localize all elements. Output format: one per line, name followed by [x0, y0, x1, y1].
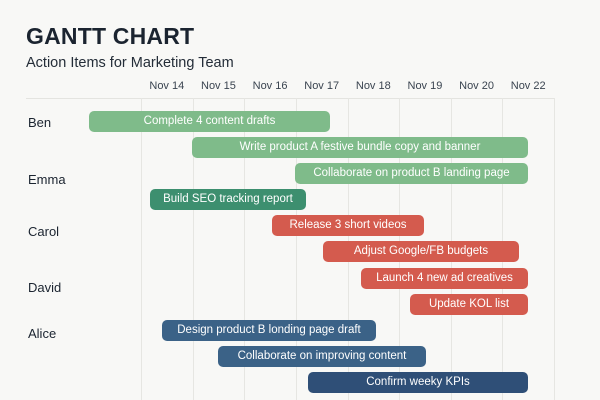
task-bar[interactable]: Build SEO tracking report	[150, 189, 306, 210]
row-label-carol: Carol	[28, 224, 132, 239]
task-bar[interactable]: Design product B londing page draft	[162, 320, 376, 341]
task-bar[interactable]: Adjust Google/FB budgets	[323, 241, 519, 262]
page-title: GANTT CHART	[26, 24, 566, 49]
task-bar[interactable]: Write product A festive bundle copy and …	[192, 137, 528, 158]
task-bar[interactable]: Launch 4 new ad creatives	[361, 268, 528, 289]
page-subtitle: Action Items for Marketing Team	[26, 55, 566, 72]
task-bar[interactable]: Complete 4 content drafts	[89, 111, 330, 132]
task-bar[interactable]: Release 3 short videos	[272, 215, 424, 236]
grid-column-line	[141, 98, 142, 400]
task-bar[interactable]: Update KOL list	[410, 294, 528, 315]
task-bar[interactable]: Confirm weeky KPIs	[308, 372, 528, 393]
task-bar[interactable]: Collaborate on improving content	[218, 346, 426, 367]
task-bar[interactable]: Collaborate on product B landing page	[295, 163, 528, 184]
header-block: GANTT CHART Action Items for Marketing T…	[26, 24, 566, 72]
row-label-alice: Alice	[28, 326, 132, 341]
row-label-david: David	[28, 280, 132, 295]
gantt-chart-page: GANTT CHART Action Items for Marketing T…	[0, 0, 600, 400]
row-label-emma: Emma	[28, 172, 132, 187]
grid-column-line	[554, 98, 555, 400]
